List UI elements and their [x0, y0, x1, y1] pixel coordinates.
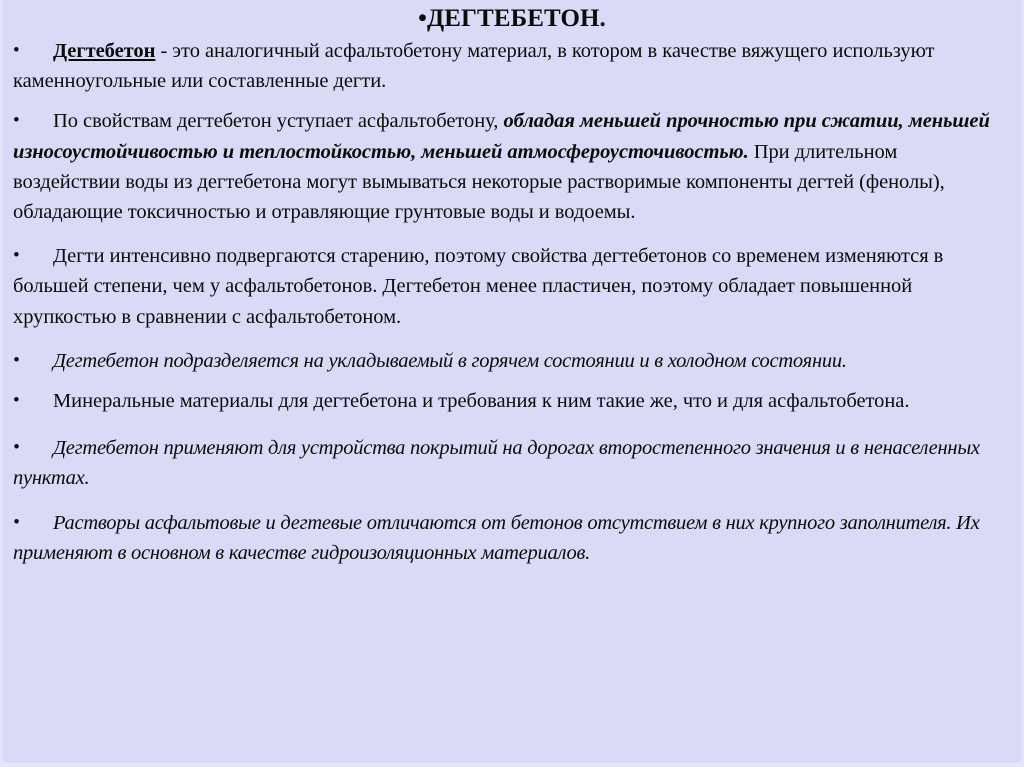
- bullet-mineral-materials-text: Минеральные материалы для дегтебетона и …: [53, 390, 909, 412]
- spacer: [13, 494, 1009, 508]
- bullet-aging-text: Дегти интенсивно подвергаются старению, …: [13, 245, 943, 327]
- spacer: [13, 376, 1009, 386]
- bullet-dot-icon: •: [13, 106, 31, 136]
- bullet-dot-icon: •: [13, 508, 31, 538]
- bullet-laying-types-text: Дегтебетон подразделяется на укладываемы…: [53, 350, 847, 372]
- bullet-application-roads: •Дегтебетон применяют для устройства пок…: [13, 433, 1009, 493]
- bullet-properties: •По свойствам дегтебетон уступает асфаль…: [13, 106, 1009, 227]
- bullet-definition: •Дегтебетон - это аналогичный асфальтобе…: [13, 36, 1009, 96]
- bullet-mortars: • Растворы асфальтовые и дегтевые отлича…: [13, 508, 1009, 568]
- bullet-mineral-materials: •Минеральные материалы для дегтебетона и…: [13, 386, 1009, 416]
- bullet-dot-icon: •: [13, 36, 31, 66]
- spacer: [13, 227, 1009, 241]
- spacer: [13, 332, 1009, 346]
- bullet-mortars-text: Растворы асфальтовые и дегтевые отличают…: [13, 512, 980, 564]
- bullet-dot-icon: •: [13, 433, 31, 463]
- bullet-aging: •Дегти интенсивно подвергаются старению,…: [13, 241, 1009, 332]
- bullet-dot-icon: •: [13, 386, 31, 416]
- spacer: [13, 96, 1009, 106]
- bullet-dot-icon: •: [13, 241, 31, 271]
- bullet-properties-part1: По свойствам дегтебетон уступает асфальт…: [53, 110, 503, 132]
- spacer: [13, 416, 1009, 433]
- page-title: •ДЕГТЕБЕТОН.: [3, 4, 1021, 34]
- bullet-dot-icon: •: [13, 346, 31, 376]
- bullet-laying-types: •Дегтебетон подразделяется на укладываем…: [13, 346, 1009, 376]
- term-degtebeton: Дегтебетон: [53, 40, 155, 62]
- bullet-application-roads-text: Дегтебетон применяют для устройства покр…: [13, 437, 980, 489]
- slide-canvas: •ДЕГТЕБЕТОН. •Дегтебетон - это аналогичн…: [0, 0, 1024, 767]
- slide-body: •Дегтебетон - это аналогичный асфальтобе…: [3, 36, 1021, 568]
